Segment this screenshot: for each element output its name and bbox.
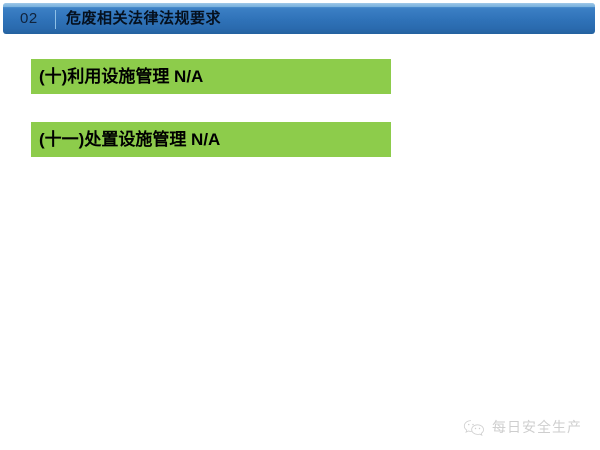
section-number: 02 (20, 10, 38, 28)
section-header-bar: 02 危废相关法律法规要求 (3, 3, 595, 34)
wechat-logo-icon (463, 419, 485, 437)
header-gloss-highlight (3, 3, 595, 7)
highlight-block-2: (十一)处置设施管理 N/A (31, 122, 391, 157)
watermark-text: 每日安全生产 (492, 419, 582, 437)
section-title: 危废相关法律法规要求 (66, 9, 221, 29)
highlight-block-2-text: (十一)处置设施管理 N/A (39, 129, 220, 151)
highlight-block-1: (十)利用设施管理 N/A (31, 59, 391, 94)
header-divider-icon (55, 10, 56, 29)
highlight-block-1-text: (十)利用设施管理 N/A (39, 66, 203, 88)
slide-canvas: 02 危废相关法律法规要求 (十)利用设施管理 N/A (十一)处置设施管理 N… (0, 0, 600, 450)
watermark: 每日安全生产 (463, 419, 582, 437)
